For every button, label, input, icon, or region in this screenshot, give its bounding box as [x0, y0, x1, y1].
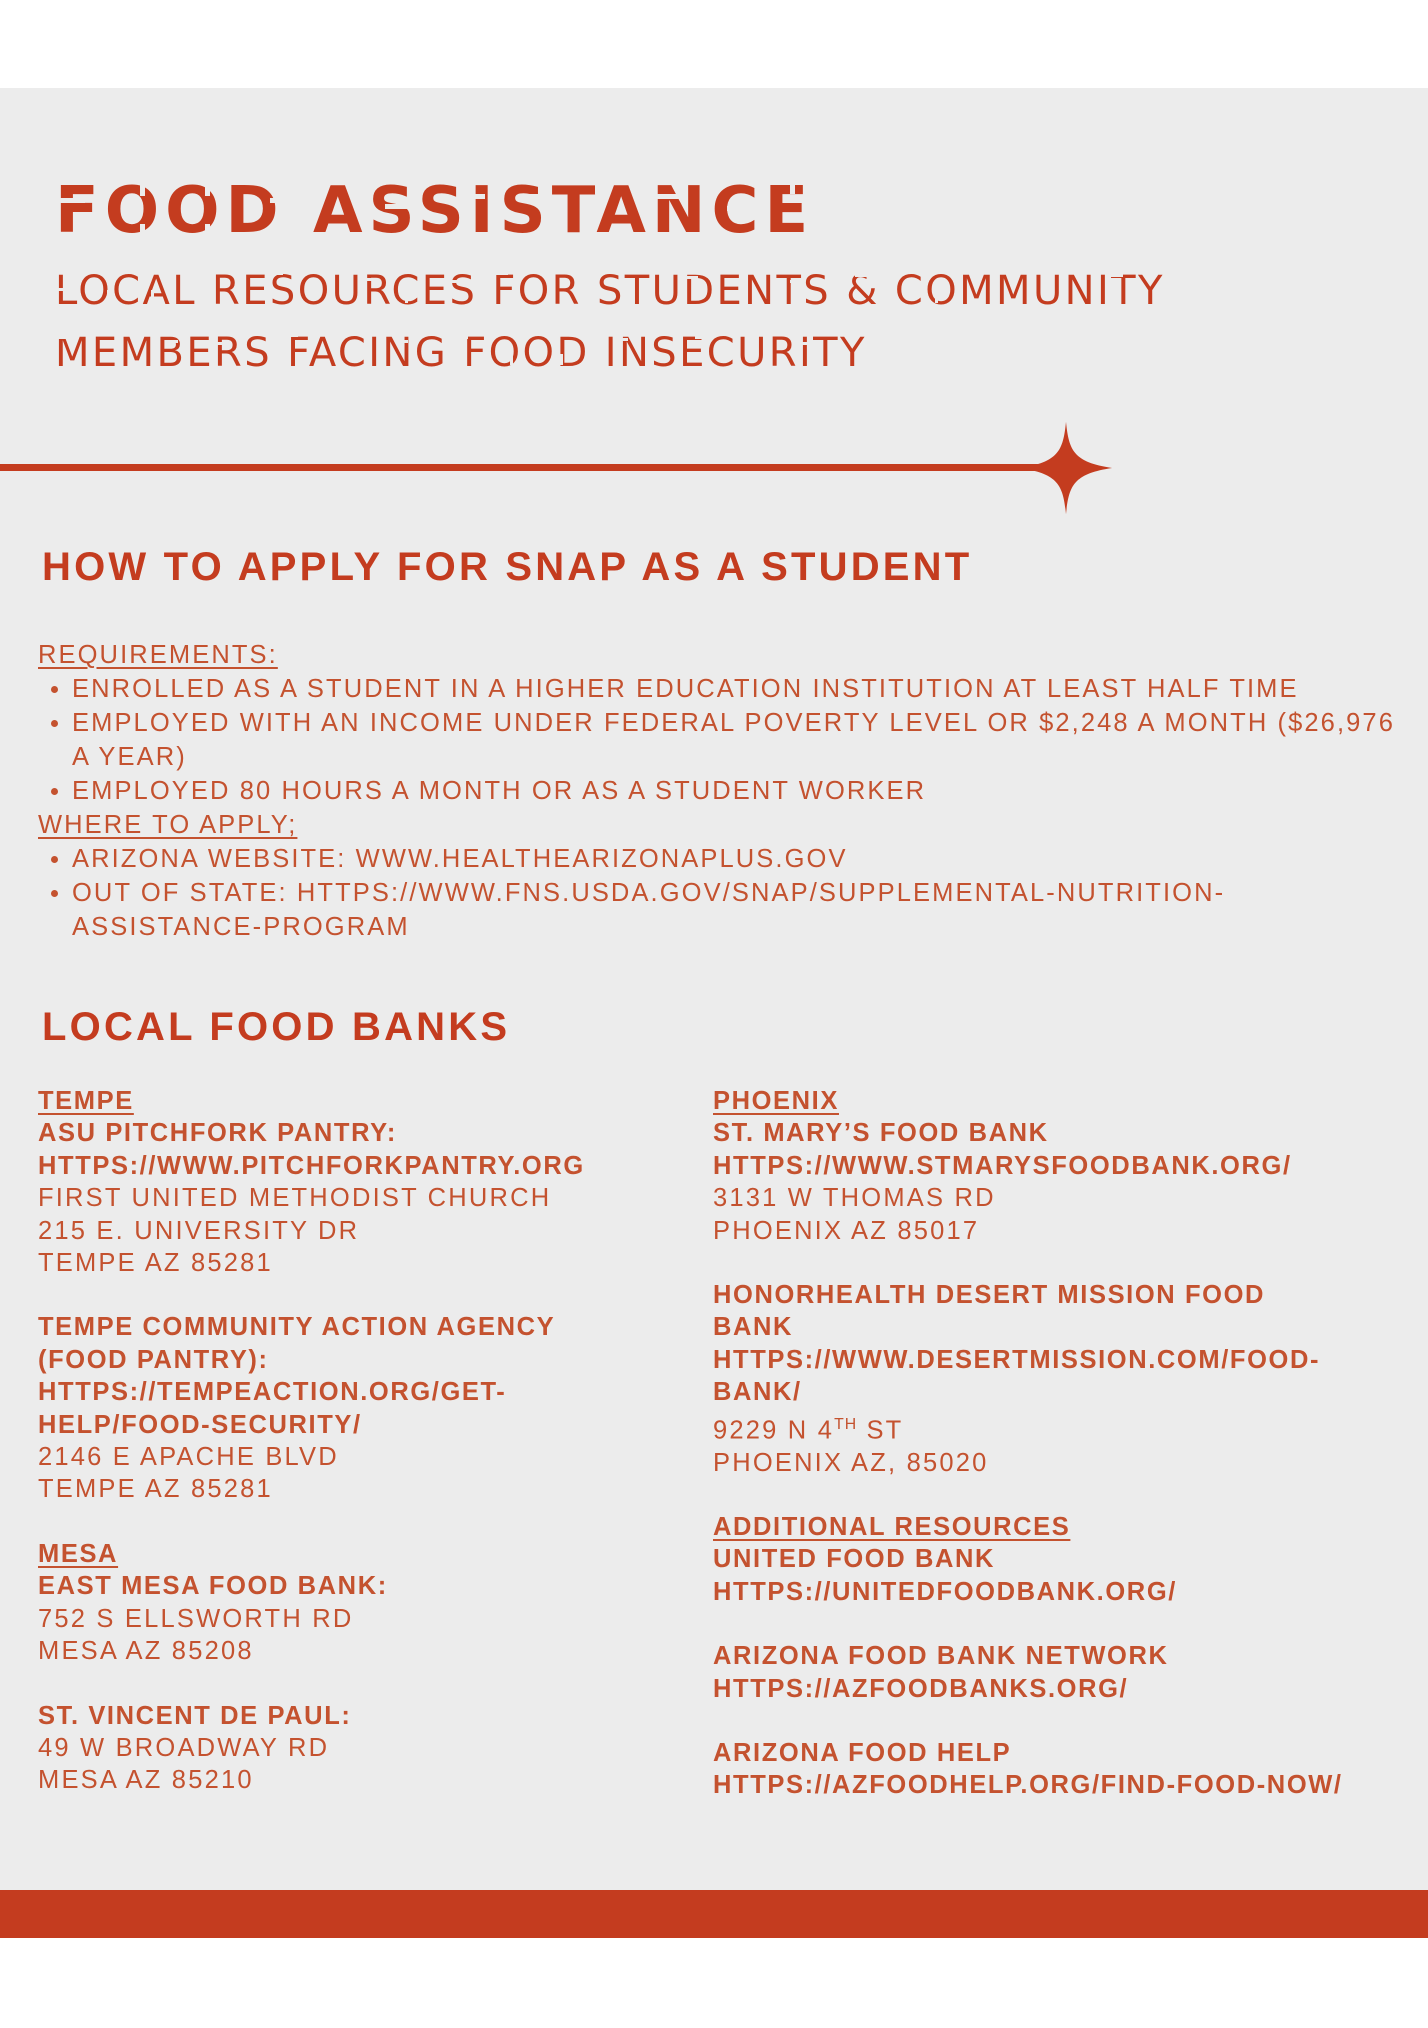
list-item[interactable]: ARIZONA WEBSITE: WWW.HEALTHEARIZONAPLUS.…	[38, 842, 1398, 876]
org-address-line: 2146 E APACHE BLVD	[38, 1441, 638, 1473]
org-url[interactable]: HTTPS://WWW.DESERTMISSION.COM/FOOD-BANK/	[713, 1344, 1343, 1409]
list-item: EMPLOYED WITH AN INCOME UNDER FEDERAL PO…	[38, 706, 1398, 774]
footer-accent-bar	[0, 1890, 1428, 1938]
list-item: ADDITIONAL RESOURCES UNITED FOOD BANK HT…	[713, 1511, 1343, 1608]
address-number: 9229 N 4	[713, 1416, 834, 1444]
org-address-line: 49 W BROADWAY RD	[38, 1732, 638, 1764]
org-name-cont: BANK	[713, 1311, 1343, 1343]
page-subtitle: LOCAL RESOURCES FOR STUDENTS & COMMUNITY	[55, 246, 1375, 384]
food-banks-section-heading: LOCAL FOOD BANKS	[42, 1005, 510, 1050]
org-name-cont: (FOOD PANTRY):	[38, 1344, 638, 1376]
four-point-star-sparkle-icon	[1018, 420, 1114, 516]
org-name: ARIZONA FOOD BANK NETWORK	[713, 1640, 1343, 1672]
org-address-line: PHOENIX AZ, 85020	[713, 1447, 1343, 1479]
org-url[interactable]: HTTPS://WWW.STMARYSFOODBANK.ORG/	[713, 1150, 1343, 1182]
org-url[interactable]: HTTPS://UNITEDFOODBANK.ORG/	[713, 1576, 1343, 1608]
list-item: ARIZONA FOOD HELP HTTPS://AZFOODHELP.ORG…	[713, 1737, 1343, 1802]
org-name: ST. MARY’S FOOD BANK	[713, 1117, 1343, 1149]
city-heading-tempe: TEMPE	[38, 1085, 638, 1117]
org-url[interactable]: HTTPS://WWW.PITCHFORKPANTRY.ORG	[38, 1150, 638, 1182]
requirements-list: ENROLLED AS A STUDENT IN A HIGHER EDUCAT…	[38, 672, 1398, 808]
requirements-label: REQUIREMENTS:	[38, 638, 1398, 672]
list-item: TEMPE ASU PITCHFORK PANTRY: HTTPS://WWW.…	[38, 1085, 638, 1279]
org-address-line: MESA AZ 85210	[38, 1764, 638, 1796]
where-to-apply-label: WHERE TO APPLY;	[38, 808, 1398, 842]
org-name: ASU PITCHFORK PANTRY:	[38, 1117, 638, 1149]
org-url[interactable]: HTTPS://AZFOODHELP.ORG/FIND-FOOD-NOW/	[713, 1769, 1343, 1801]
snap-section-heading: HOW TO APPLY FOR SNAP AS A STUDENT	[42, 545, 972, 590]
org-address-line: MESA AZ 85208	[38, 1635, 638, 1667]
address-street: ST	[857, 1416, 903, 1444]
list-item: ENROLLED AS A STUDENT IN A HIGHER EDUCAT…	[38, 672, 1398, 706]
list-item: HONORHEALTH DESERT MISSION FOOD BANK HTT…	[713, 1279, 1343, 1479]
city-heading-phoenix: PHOENIX	[713, 1085, 1343, 1117]
list-item: PHOENIX ST. MARY’S FOOD BANK HTTPS://WWW…	[713, 1085, 1343, 1247]
list-item: TEMPE COMMUNITY ACTION AGENCY (FOOD PANT…	[38, 1311, 638, 1505]
org-address-line: PHOENIX AZ 85017	[713, 1215, 1343, 1247]
food-banks-right-column: PHOENIX ST. MARY’S FOOD BANK HTTPS://WWW…	[713, 1085, 1343, 1802]
city-heading-mesa: MESA	[38, 1538, 638, 1570]
food-banks-left-column: TEMPE ASU PITCHFORK PANTRY: HTTPS://WWW.…	[38, 1085, 638, 1797]
list-item: ARIZONA FOOD BANK NETWORK HTTPS://AZFOOD…	[713, 1640, 1343, 1705]
list-item: ST. VINCENT DE PAUL: 49 W BROADWAY RD ME…	[38, 1700, 638, 1797]
org-name: ST. VINCENT DE PAUL:	[38, 1700, 638, 1732]
org-address-line: 3131 W THOMAS RD	[713, 1182, 1343, 1214]
org-address-line: 215 E. UNIVERSITY DR	[38, 1215, 638, 1247]
page-title: FOOD ASSISTANCE	[55, 176, 1375, 246]
org-name: UNITED FOOD BANK	[713, 1543, 1343, 1575]
org-address-line: TEMPE AZ 85281	[38, 1247, 638, 1279]
additional-resources-heading: ADDITIONAL RESOURCES	[713, 1511, 1343, 1543]
org-name: HONORHEALTH DESERT MISSION FOOD	[713, 1279, 1343, 1311]
org-name: TEMPE COMMUNITY ACTION AGENCY	[38, 1311, 638, 1343]
org-address-line: 752 S ELLSWORTH RD	[38, 1603, 638, 1635]
org-address-line: 9229 N 4TH ST	[713, 1409, 1343, 1447]
list-item: EMPLOYED 80 HOURS A MONTH OR AS A STUDEN…	[38, 774, 1398, 808]
org-name: ARIZONA FOOD HELP	[713, 1737, 1343, 1769]
org-url[interactable]: HTTPS://TEMPEACTION.ORG/GET-HELP/FOOD-SE…	[38, 1376, 638, 1441]
list-item[interactable]: OUT OF STATE: HTTPS://WWW.FNS.USDA.GOV/S…	[38, 876, 1398, 944]
snap-section-body: REQUIREMENTS: ENROLLED AS A STUDENT IN A…	[38, 638, 1398, 944]
org-name: EAST MESA FOOD BANK:	[38, 1570, 638, 1602]
list-item: MESA EAST MESA FOOD BANK: 752 S ELLSWORT…	[38, 1538, 638, 1668]
org-url[interactable]: HTTPS://AZFOODBANKS.ORG/	[713, 1673, 1343, 1705]
org-address-line: TEMPE AZ 85281	[38, 1473, 638, 1505]
flyer-header: FOOD ASSISTANCE	[55, 176, 1375, 384]
where-to-apply-list: ARIZONA WEBSITE: WWW.HEALTHEARIZONAPLUS.…	[38, 842, 1398, 944]
header-divider-rule	[0, 464, 1075, 471]
org-address-line: FIRST UNITED METHODIST CHURCH	[38, 1182, 638, 1214]
flyer-page: FOOD ASSISTANCE	[0, 0, 1428, 2028]
address-ordinal-suffix: TH	[834, 1416, 857, 1433]
